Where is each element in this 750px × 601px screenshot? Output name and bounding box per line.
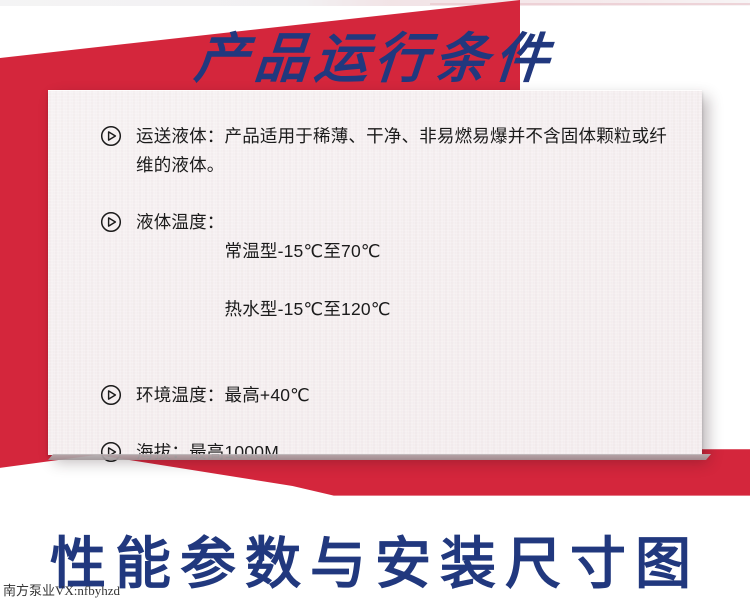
temperature-values: 常温型-15℃至70℃ 热水型-15℃至120℃ [225, 208, 391, 353]
list-item-text: 液体温度： 常温型-15℃至70℃ 热水型-15℃至120℃ [136, 208, 391, 353]
watermark: 南方泵业VX:nfbyhzd [3, 580, 120, 599]
list-item: 环境温度：最高+40℃ [100, 381, 684, 410]
list-item-text: 海拔：最高1000M [136, 438, 279, 467]
play-circle-icon [100, 384, 122, 406]
list-item: 液体温度： 常温型-15℃至70℃ 热水型-15℃至120℃ [100, 208, 684, 353]
list-item: 运送液体：产品适用于稀薄、干净、非易燃易爆并不含固体颗粒或纤维的液体。 [100, 122, 684, 180]
product-operating-conditions-poster: 产品运行条件 运送液体：产品适用于稀薄、干净、非易燃易爆并不含固体颗粒或纤维的液… [0, 0, 750, 601]
temperature-hotwater-type: 热水型-15℃至120℃ [225, 295, 391, 324]
conditions-card: 运送液体：产品适用于稀薄、干净、非易燃易爆并不含固体颗粒或纤维的液体。 液体温度… [48, 90, 702, 455]
play-circle-icon [100, 125, 122, 147]
list-item-text: 运送液体：产品适用于稀薄、干净、非易燃易爆并不含固体颗粒或纤维的液体。 [136, 122, 684, 180]
play-circle-icon [100, 441, 122, 463]
play-circle-icon [100, 211, 122, 233]
list-item-text: 环境温度：最高+40℃ [136, 381, 310, 410]
page-title-top: 产品运行条件 [0, 14, 750, 93]
conditions-list: 运送液体：产品适用于稀薄、干净、非易燃易爆并不含固体颗粒或纤维的液体。 液体温度… [100, 122, 684, 467]
temperature-ambient-type: 常温型-15℃至70℃ [225, 237, 391, 266]
list-item-label: 液体温度： [136, 208, 225, 353]
list-item: 海拔：最高1000M [100, 438, 684, 467]
